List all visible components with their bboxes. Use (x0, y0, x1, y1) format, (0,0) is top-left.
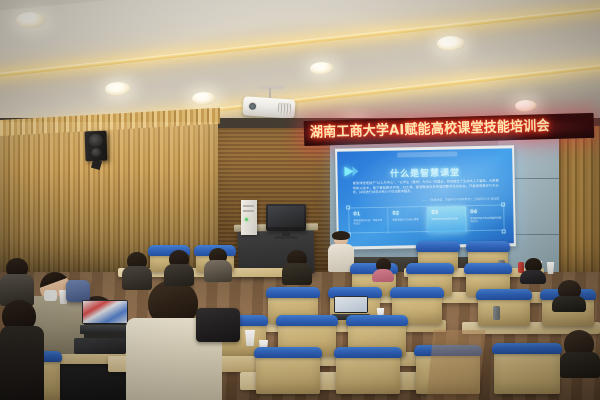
attendee (122, 252, 152, 288)
seat-cushion (346, 315, 408, 326)
attendee-torso (520, 270, 546, 284)
seat-cushion (406, 263, 454, 274)
seat-cushion (276, 315, 338, 326)
seat-back (256, 352, 320, 394)
attendee-torso (560, 352, 600, 378)
slide-card-row: 01 智慧课堂的内涵、特征与目标定位 02 智慧课堂的三大核心要素 03 智慧课… (348, 204, 504, 233)
slide-citation: —— 《智慧课堂：深度学习与高效教学》上海师范大学 黎加厚 (422, 197, 499, 202)
attendee (282, 250, 312, 284)
attendee-torso (552, 296, 586, 312)
seat-cushion (390, 287, 444, 298)
projector-mount-plate (258, 86, 284, 89)
laptop-lid (334, 296, 368, 313)
projection-screen: 什么是智慧课堂 智慧课堂是基于"以人为中心"、"以学生（教师）为中心"的理念，实… (335, 145, 516, 249)
attendee-torso (282, 263, 312, 285)
slide-card-text: 智慧教学技术的实践路径与案例分析 (470, 216, 505, 223)
seat-cushion (334, 347, 402, 358)
seat-cushion (266, 287, 320, 298)
pc-drive-bay (243, 205, 254, 207)
attendee (520, 258, 546, 282)
laptop (82, 300, 128, 334)
attendee (0, 258, 34, 304)
attendee-torso (0, 326, 44, 400)
slide-card-text: 智慧课堂的内涵、特征与目标定位 (353, 219, 387, 226)
slide-card-active: 03 智慧课堂的教学模式构建 (427, 206, 466, 233)
presenter-hair (332, 231, 350, 240)
lecture-hall-photo: 湖南工商大学AI赋能高校课堂技能培训会 什么是智慧课堂 智慧课堂是基于"以人为中… (0, 0, 600, 400)
right-wood-slat-wall (556, 126, 600, 286)
chevron-right-icon (344, 166, 353, 176)
ceiling-downlight (192, 92, 216, 105)
slide-card-number: 03 (431, 209, 465, 216)
slide-title: 什么是智慧课堂 (337, 164, 512, 180)
seat-cushion (254, 347, 322, 358)
monitor-screen (268, 206, 304, 227)
attendee (204, 248, 232, 280)
presentation-slide: 什么是智慧课堂 智慧课堂是基于"以人为中心"、"以学生（教师）为中心"的理念，实… (337, 148, 514, 246)
thermos (493, 306, 500, 320)
laptop-keyboard-base (80, 325, 130, 334)
handbag (66, 280, 90, 302)
slide-card-text: 智慧课堂的三大核心要素 (392, 218, 426, 222)
slide-card-number: 01 (353, 211, 387, 218)
seat (478, 294, 530, 326)
attendee-torso (164, 264, 194, 286)
slide-corner-marker (346, 205, 350, 209)
podium-monitor (266, 204, 306, 231)
slide-card: 02 智慧课堂的三大核心要素 (388, 207, 427, 234)
laptop-lid (82, 300, 128, 324)
slide-card-number: 04 (470, 208, 505, 215)
slide-body-text: 智慧课堂是基于"以人为中心"、"以学生（教师）为中心"的理念，实现融合了生成式人… (353, 179, 499, 196)
laptop-closed (74, 338, 126, 354)
speaker-driver-icon (89, 134, 103, 147)
monitor-base (274, 236, 298, 239)
slide-card: 01 智慧课堂的内涵、特征与目标定位 (349, 208, 388, 235)
seat (256, 352, 320, 394)
slide-corner-marker (501, 202, 505, 206)
seat-cushion (416, 241, 460, 252)
attendee-torso (204, 260, 232, 282)
attendee (560, 330, 600, 376)
ceiling-downlight (310, 62, 334, 75)
laptop-screen (83, 301, 127, 323)
seat (336, 352, 400, 394)
attendee (164, 250, 194, 284)
projector-lens-icon (248, 102, 258, 112)
slide-card-number: 02 (392, 210, 426, 217)
seat-cushion (476, 289, 532, 300)
ceiling-downlight (437, 36, 465, 51)
seat-cushion (466, 241, 510, 252)
attendee (372, 258, 394, 280)
ceiling-downlight (515, 100, 537, 112)
seat (494, 348, 560, 394)
slide-card-text: 智慧课堂的教学模式构建 (431, 217, 465, 221)
ceiling-downlight (105, 82, 131, 96)
laptop-screen (335, 297, 367, 312)
power-led-icon (245, 218, 248, 221)
slide-card: 04 智慧教学技术的实践路径与案例分析 (466, 205, 505, 232)
seat-cushion (492, 343, 562, 354)
speaker-tweeter-icon (91, 148, 101, 157)
slide-corner-marker (502, 229, 506, 233)
backpack (196, 308, 240, 342)
ceiling-downlight (16, 12, 46, 28)
seat-back (336, 352, 400, 394)
slide-header-bar (397, 151, 457, 157)
seat-back (494, 348, 560, 394)
aisle-floor (426, 330, 485, 400)
laptop-lid (74, 338, 126, 354)
attendee (0, 300, 44, 400)
desktop-pc-tower (241, 200, 257, 235)
attendee-torso (122, 266, 152, 290)
face-mask-icon (44, 290, 57, 301)
attendee-torso (372, 269, 394, 282)
chevron-right-icon (352, 166, 358, 176)
wall-loudspeaker (84, 131, 107, 162)
pc-drive-bay (243, 210, 254, 212)
seat-cushion (464, 263, 512, 274)
banner-text: 湖南工商大学AI赋能高校课堂技能培训会 (310, 116, 573, 144)
attendee (552, 280, 586, 310)
